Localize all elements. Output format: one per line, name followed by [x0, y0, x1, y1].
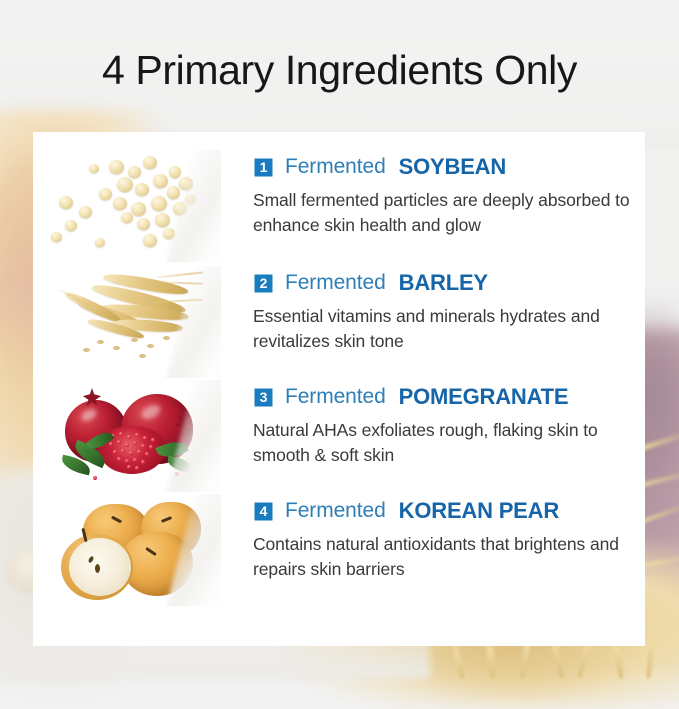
number-badge-1: 1	[253, 157, 274, 178]
soybean-heading: 1 Fermented SOYBEAN	[253, 152, 645, 182]
barley-heading: 2 Fermented BARLEY	[253, 268, 645, 298]
barley-text-block: 2 Fermented BARLEY Essential vitamins an…	[221, 266, 645, 355]
page-title: 4 Primary Ingredients Only	[0, 48, 679, 93]
ingredient-row-barley: 2 Fermented BARLEY Essential vitamins an…	[33, 266, 645, 381]
fermented-label-3: Fermented	[285, 385, 386, 409]
korean-pear-text-block: 4 Fermented KOREAN PEAR Contains natural…	[221, 494, 645, 583]
number-badge-2: 2	[253, 273, 274, 294]
ingredient-description-3: Natural AHAs exfoliates rough, flaking s…	[253, 418, 645, 469]
ingredient-name-4: KOREAN PEAR	[396, 498, 562, 524]
number-badge-4: 4	[253, 501, 274, 522]
korean-pear-heading: 4 Fermented KOREAN PEAR	[253, 496, 645, 526]
fermented-label-2: Fermented	[285, 271, 386, 295]
ingredient-description-2: Essential vitamins and minerals hydrates…	[253, 304, 645, 355]
soybean-photo	[43, 150, 221, 262]
soybean-text-block: 1 Fermented SOYBEAN Small fermented part…	[221, 150, 645, 239]
ingredient-row-soybean: 1 Fermented SOYBEAN Small fermented part…	[33, 150, 645, 265]
barley-photo	[43, 266, 221, 378]
number-badge-3: 3	[253, 387, 274, 408]
ingredient-name-2: BARLEY	[396, 270, 491, 296]
ingredients-card: 1 Fermented SOYBEAN Small fermented part…	[33, 132, 645, 646]
ingredient-row-korean-pear: 4 Fermented KOREAN PEAR Contains natural…	[33, 494, 645, 609]
pomegranate-text-block: 3 Fermented POMEGRANATE Natural AHAs exf…	[221, 380, 645, 469]
ingredient-name-1: SOYBEAN	[396, 154, 509, 180]
fermented-label-1: Fermented	[285, 155, 386, 179]
fermented-label-4: Fermented	[285, 499, 386, 523]
pomegranate-heading: 3 Fermented POMEGRANATE	[253, 382, 645, 412]
ingredient-name-3: POMEGRANATE	[396, 384, 572, 410]
ingredient-description-1: Small fermented particles are deeply abs…	[253, 188, 645, 239]
korean-pear-photo	[43, 494, 221, 606]
pomegranate-photo	[43, 380, 221, 492]
ingredient-row-pomegranate: 3 Fermented POMEGRANATE Natural AHAs exf…	[33, 380, 645, 495]
ingredient-description-4: Contains natural antioxidants that brigh…	[253, 532, 645, 583]
